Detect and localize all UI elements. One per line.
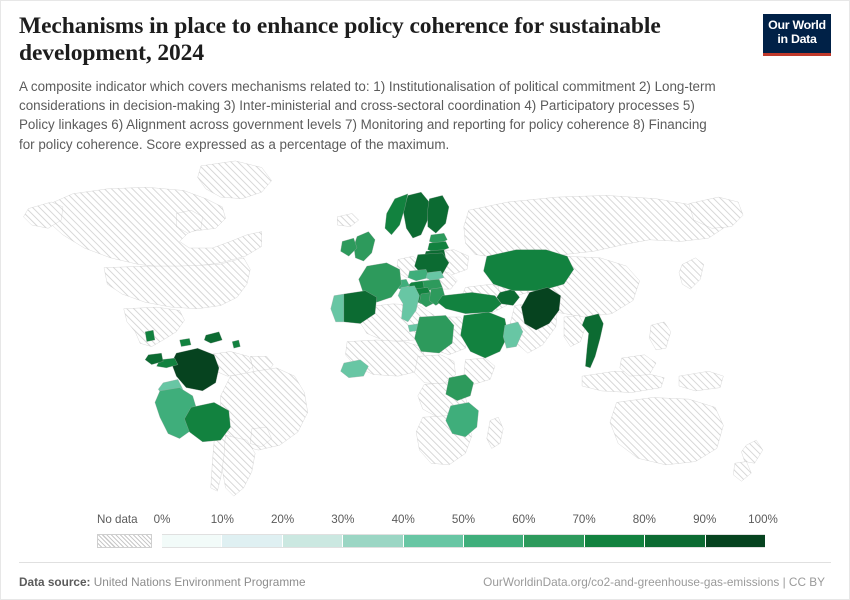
country-indonesia[interactable] — [582, 371, 664, 392]
country-sweden[interactable] — [403, 192, 429, 238]
country-czechia[interactable] — [408, 269, 429, 281]
country-iceland[interactable] — [337, 214, 358, 227]
legend-bin-4[interactable] — [404, 535, 464, 547]
legend-tick-10: 10% — [211, 513, 234, 526]
world-map[interactable] — [15, 156, 837, 501]
owid-map-chart: Mechanisms in place to enhance policy co… — [0, 0, 850, 600]
legend-swatches — [97, 534, 765, 548]
country-canada[interactable] — [47, 187, 262, 268]
legend-bin-3[interactable] — [343, 535, 403, 547]
country-japan[interactable] — [679, 258, 704, 289]
page-title: Mechanisms in place to enhance policy co… — [19, 13, 669, 68]
chart-header: Mechanisms in place to enhance policy co… — [19, 13, 831, 154]
legend-bin-7[interactable] — [585, 535, 645, 547]
country-saudi-arabia[interactable] — [461, 312, 509, 358]
legend-no-data-swatch[interactable] — [97, 534, 152, 548]
legend-tick-40: 40% — [392, 513, 415, 526]
country-philippines[interactable] — [649, 322, 670, 350]
legend-bin-5[interactable] — [464, 535, 524, 547]
legend-tick-70: 70% — [572, 513, 595, 526]
world-map-svg[interactable] — [15, 156, 837, 501]
map-legend[interactable]: No data 0% 10% 20% 30% 40% 50% 60% 70% 8… — [97, 513, 765, 553]
chart-footer: Data source: United Nations Environment … — [19, 562, 831, 592]
country-antigua[interactable] — [232, 340, 240, 348]
country-mexico[interactable] — [124, 307, 185, 346]
attribution-link[interactable]: OurWorldinData.org/co2-and-greenhouse-ga… — [483, 575, 831, 589]
legend-bin-0[interactable] — [162, 535, 222, 547]
country-finland[interactable] — [428, 195, 449, 233]
country-papua-new-guinea[interactable] — [679, 371, 723, 391]
legend-bin-6[interactable] — [524, 535, 584, 547]
data-source-label: Data source: — [19, 575, 90, 589]
chart-subtitle: A composite indicator which covers mecha… — [19, 77, 719, 155]
country-madagascar[interactable] — [487, 417, 503, 448]
country-vietnam[interactable] — [582, 314, 603, 368]
owid-logo[interactable]: Our World in Data — [763, 14, 831, 56]
legend-tick-80: 80% — [633, 513, 656, 526]
country-united-kingdom[interactable] — [354, 232, 375, 262]
country-portugal[interactable] — [331, 294, 344, 322]
country-bolivia[interactable] — [185, 402, 231, 441]
owid-logo-box: Our World in Data — [763, 14, 831, 53]
legend-labels: No data 0% 10% 20% 30% 40% 50% 60% 70% 8… — [97, 513, 765, 530]
legend-bin-1[interactable] — [222, 535, 282, 547]
country-ireland[interactable] — [341, 238, 357, 256]
owid-logo-line1: Our World — [766, 19, 828, 33]
legend-color-bar[interactable] — [162, 534, 765, 548]
legend-tick-30: 30% — [331, 513, 354, 526]
country-jamaica[interactable] — [180, 338, 192, 346]
legend-bin-9[interactable] — [706, 535, 765, 547]
country-dominican-republic[interactable] — [204, 332, 222, 344]
legend-tick-0: 0% — [154, 513, 171, 526]
owid-logo-line2: in Data — [766, 33, 828, 47]
legend-tick-20: 20% — [271, 513, 294, 526]
country-new-zealand[interactable] — [741, 440, 762, 463]
legend-tick-60: 60% — [512, 513, 535, 526]
country-myanmar-thailand[interactable] — [564, 315, 585, 346]
owid-logo-accent-bar — [763, 53, 831, 56]
legend-bin-8[interactable] — [645, 535, 705, 547]
country-australia[interactable] — [610, 398, 723, 465]
country-turkey[interactable] — [438, 292, 502, 313]
legend-tick-90: 90% — [693, 513, 716, 526]
country-greenland[interactable] — [198, 161, 272, 199]
data-source-value: United Nations Environment Programme — [94, 575, 306, 589]
country-new-zealand-south[interactable] — [733, 462, 751, 482]
legend-tick-50: 50% — [452, 513, 475, 526]
legend-tick-100: 100% — [748, 513, 778, 526]
country-kazakhstan[interactable] — [484, 250, 574, 291]
legend-no-data-label: No data — [97, 513, 138, 526]
header-text-block: Mechanisms in place to enhance policy co… — [19, 13, 719, 154]
legend-bin-2[interactable] — [283, 535, 343, 547]
country-russia[interactable] — [464, 195, 724, 257]
country-belize[interactable] — [145, 330, 155, 342]
data-source: Data source: United Nations Environment … — [19, 575, 306, 589]
